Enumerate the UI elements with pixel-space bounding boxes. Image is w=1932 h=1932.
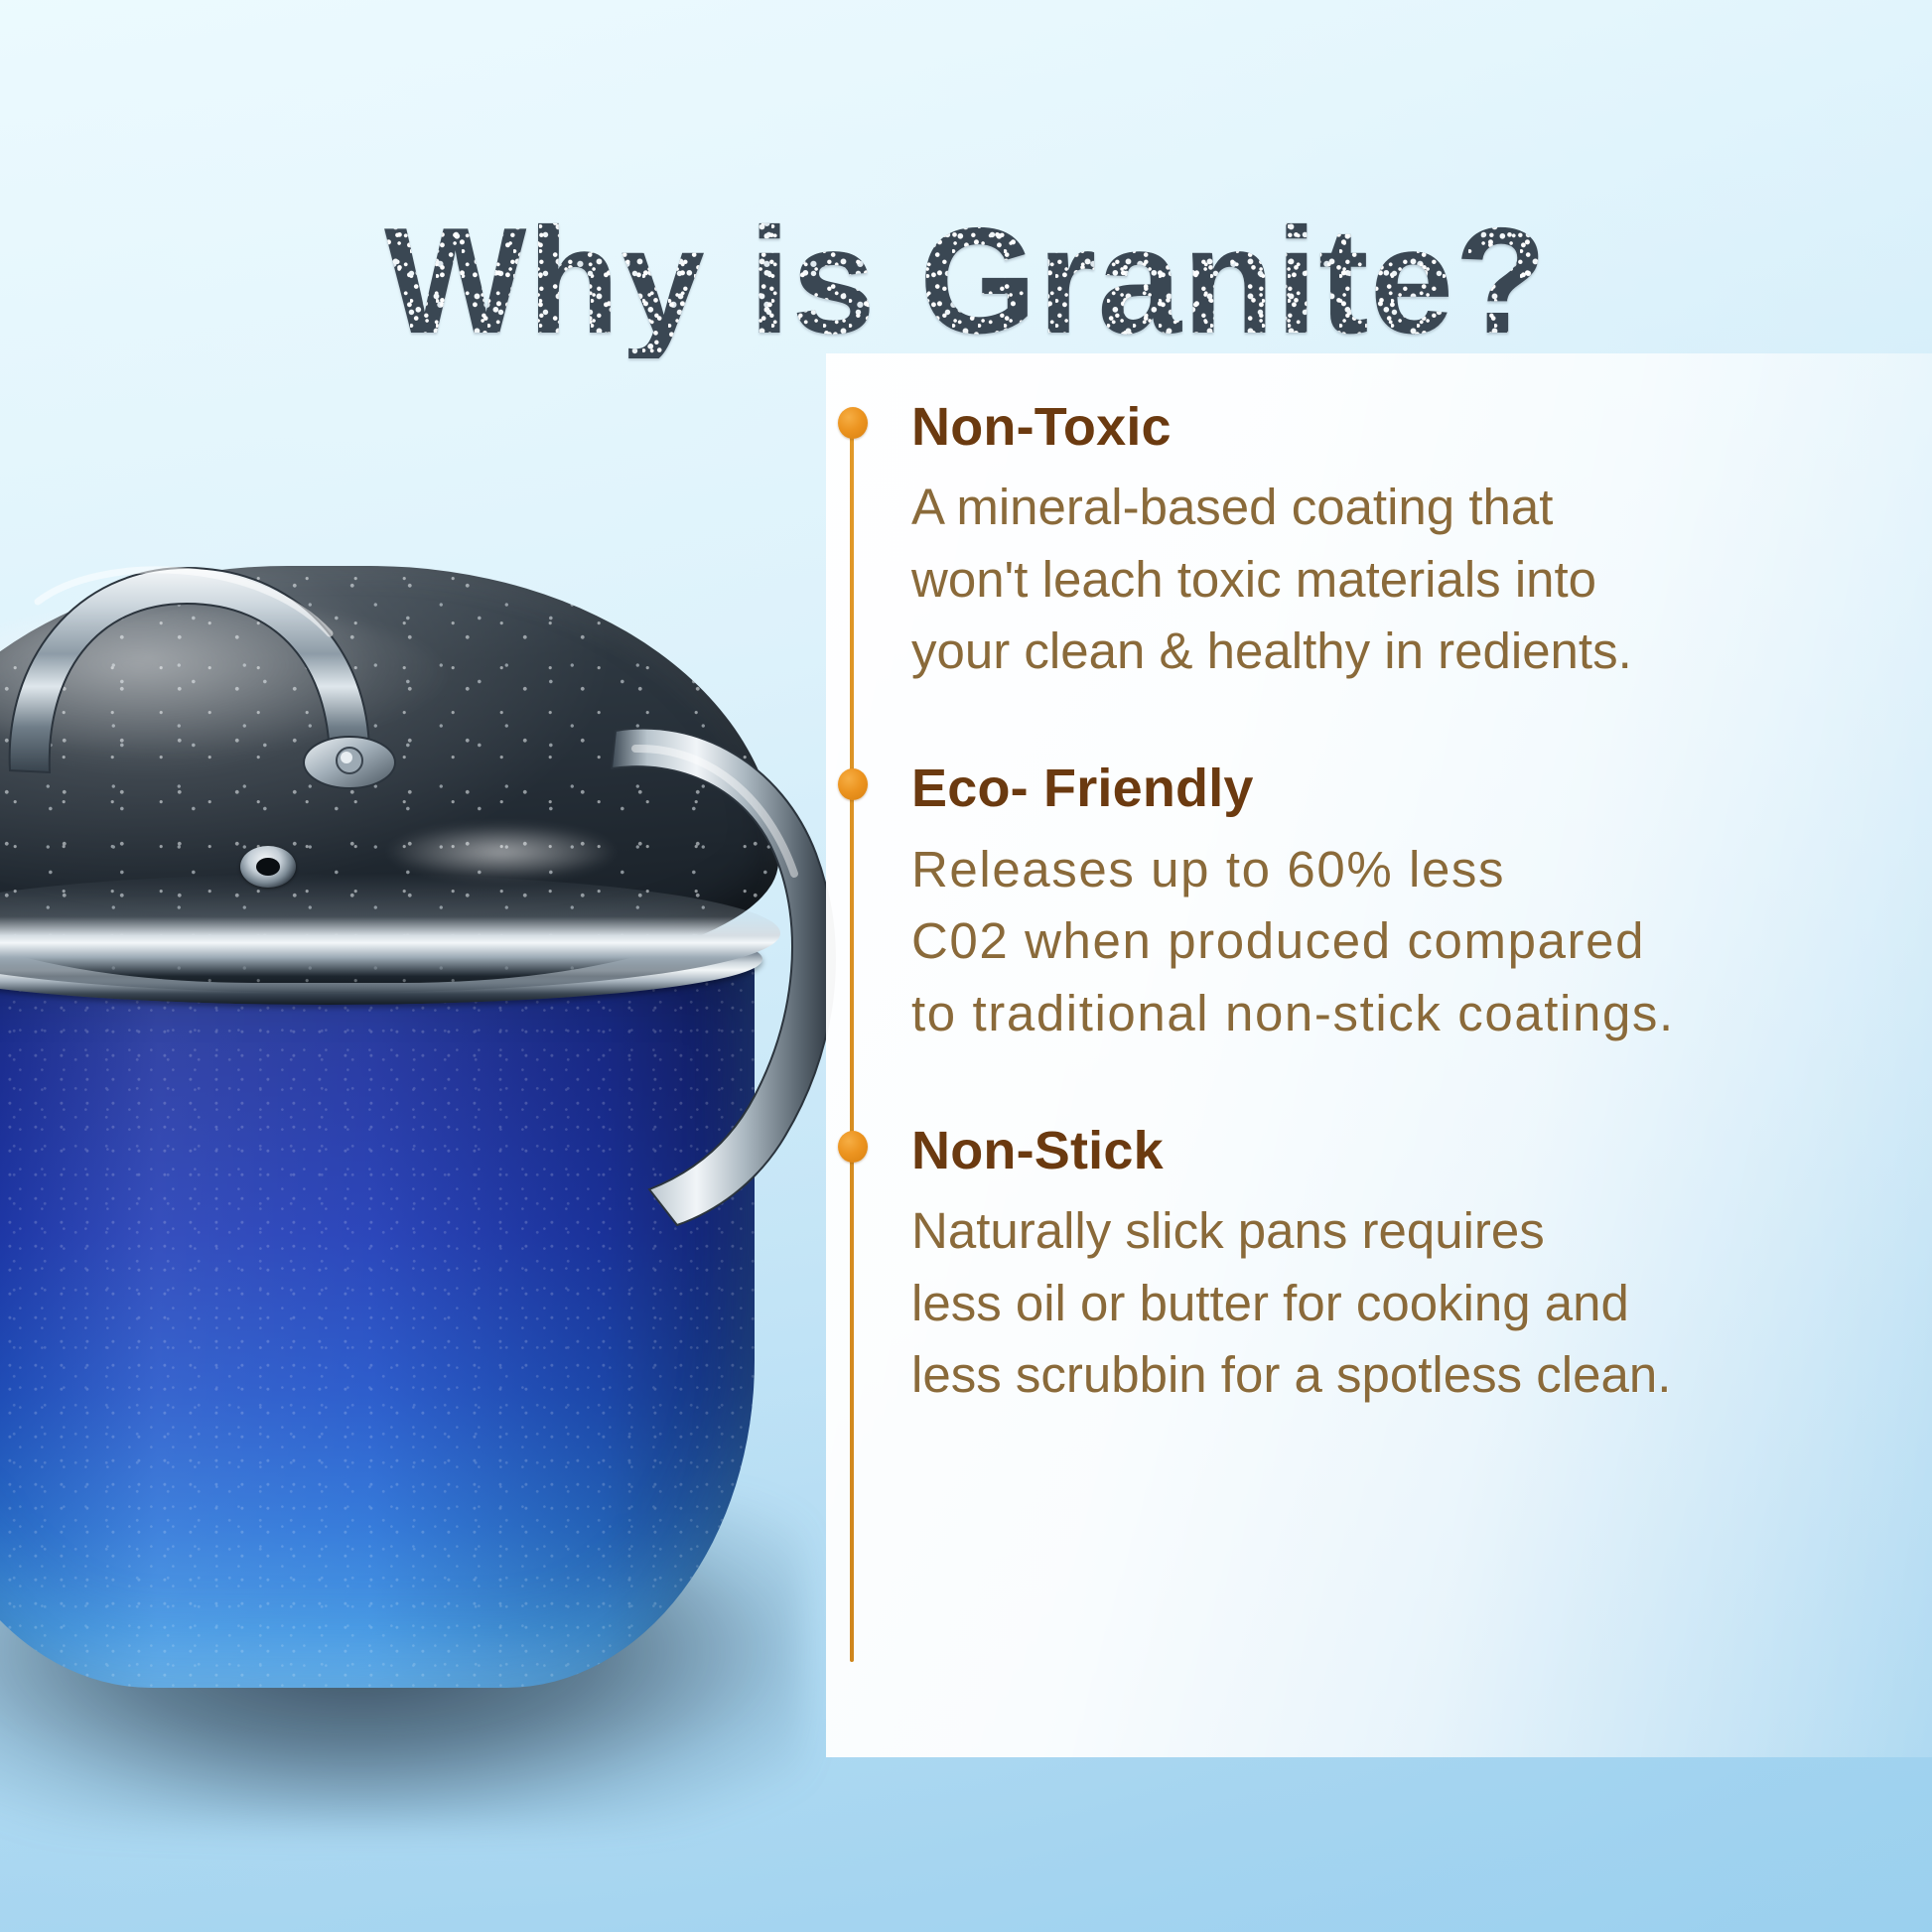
feature-body-line: C02 when produced compared [911, 905, 1896, 977]
features-panel: Non-Toxic A mineral-based coating that w… [826, 353, 1932, 1757]
bullet-dot-icon [838, 768, 868, 800]
feature-body-line: A mineral-based coating that [911, 472, 1896, 543]
feature-body: Naturally slick pans requires less oil o… [911, 1195, 1896, 1411]
feature-body-line: less oil or butter for cooking and [911, 1268, 1896, 1339]
feature-title: Non-Toxic [911, 399, 1896, 456]
feature-body-line: your clean & healthy in redients. [911, 616, 1896, 687]
feature-body: Releases up to 60% less C02 when produce… [911, 834, 1896, 1049]
lid-handle-icon [0, 542, 407, 790]
feature-item-non-toxic: Non-Toxic A mineral-based coating that w… [850, 399, 1896, 687]
feature-title: Non-Stick [911, 1123, 1896, 1179]
lid-highlight-secondary [387, 824, 616, 880]
steam-vent-icon [240, 846, 296, 888]
feature-item-eco-friendly: Eco- Friendly Releases up to 60% less C0… [850, 760, 1896, 1048]
feature-body-line: Releases up to 60% less [911, 834, 1896, 905]
feature-body: A mineral-based coating that won't leach… [911, 472, 1896, 687]
feature-title: Eco- Friendly [911, 760, 1896, 817]
bullet-dot-icon [838, 1131, 868, 1163]
features-list: Non-Toxic A mineral-based coating that w… [826, 353, 1932, 1757]
feature-body-line: Naturally slick pans requires [911, 1195, 1896, 1267]
feature-body-line: to traditional non-stick coatings. [911, 978, 1896, 1049]
product-image [0, 397, 963, 1817]
feature-item-non-stick: Non-Stick Naturally slick pans requires … [850, 1123, 1896, 1411]
bullet-dot-icon [838, 407, 868, 439]
infographic-canvas: Why is Granite? [0, 0, 1932, 1932]
feature-body-line: less scrubbin for a spotless clean. [911, 1339, 1896, 1411]
feature-body-line: won't leach toxic materials into [911, 544, 1896, 616]
